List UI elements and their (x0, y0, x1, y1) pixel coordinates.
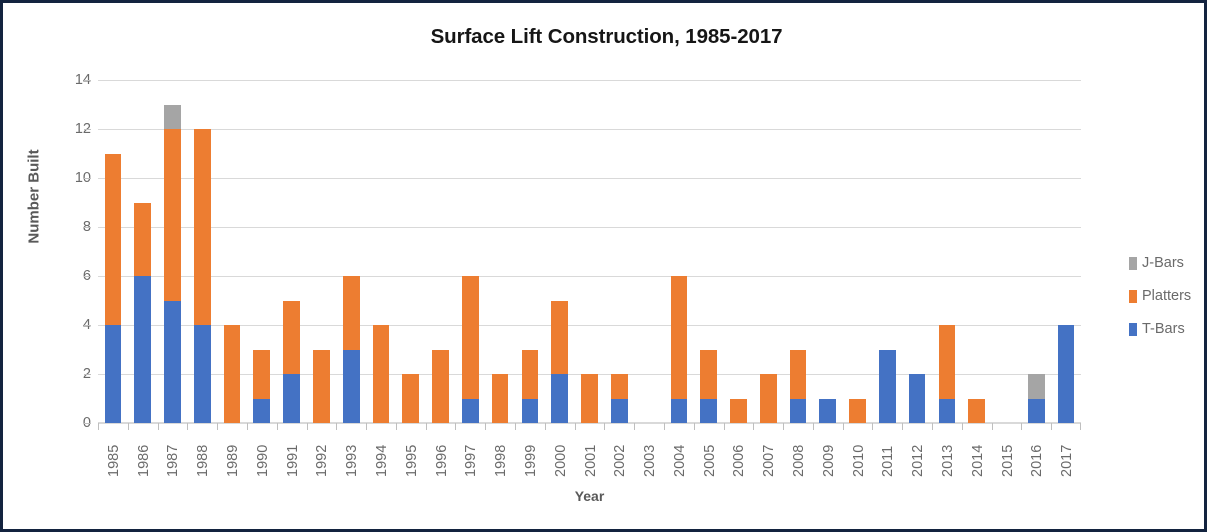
bar-segment-platters[interactable] (343, 276, 360, 350)
stacked-bar[interactable] (939, 325, 956, 423)
bar-segment-platters[interactable] (105, 154, 122, 326)
x-axis-tick-label: 2007 (760, 425, 778, 477)
bar-group[interactable] (485, 80, 515, 423)
bar-segment-platters[interactable] (581, 374, 598, 423)
bar-segment-platters[interactable] (492, 374, 509, 423)
stacked-bar[interactable] (283, 301, 300, 424)
x-axis-tick-label: 2013 (939, 425, 957, 477)
y-axis-tick-mark (84, 129, 91, 130)
x-axis-tick-mark (98, 423, 99, 430)
x-axis-tick-label: 1987 (164, 425, 182, 477)
bar-segment-t-bars[interactable] (253, 399, 270, 424)
legend-item[interactable]: T-Bars (1129, 315, 1207, 343)
bar-group[interactable] (575, 80, 605, 423)
bar-group[interactable] (724, 80, 754, 423)
x-axis-tick-mark (187, 423, 188, 430)
bar-segment-platters[interactable] (313, 350, 330, 424)
x-axis-tick-mark (158, 423, 159, 430)
bar-segment-platters[interactable] (968, 399, 985, 424)
bar-segment-t-bars[interactable] (105, 325, 122, 423)
legend-item[interactable]: Platters (1129, 282, 1207, 310)
x-axis-tick-label: 2017 (1058, 425, 1076, 477)
bar-group[interactable] (426, 80, 456, 423)
bar-segment-platters[interactable] (522, 350, 539, 399)
bar-group[interactable] (902, 80, 932, 423)
bar-segment-platters[interactable] (402, 374, 419, 423)
x-axis-tick-label: 1988 (194, 425, 212, 477)
bar-group[interactable] (1051, 80, 1081, 423)
stacked-bar[interactable] (968, 399, 985, 424)
bar-group[interactable] (128, 80, 158, 423)
x-axis-tick-mark (932, 423, 933, 430)
bar-segment-t-bars[interactable] (611, 399, 628, 424)
x-axis-tick-mark (604, 423, 605, 430)
x-axis-tick-mark (872, 423, 873, 430)
stacked-bar[interactable] (909, 374, 926, 423)
bar-segment-t-bars[interactable] (194, 325, 211, 423)
x-axis-tick-label: 1993 (343, 425, 361, 477)
stacked-bar[interactable] (492, 374, 509, 423)
bar-group[interactable] (634, 80, 664, 423)
stacked-bar[interactable] (373, 325, 390, 423)
x-axis-tick-label: 1995 (403, 425, 421, 477)
legend-item[interactable]: J-Bars (1129, 249, 1207, 277)
x-axis-tick-mark (455, 423, 456, 430)
x-axis-tick-label: 2015 (999, 425, 1017, 477)
bar-group[interactable] (694, 80, 724, 423)
stacked-bar[interactable] (253, 350, 270, 424)
x-axis-tick-mark (366, 423, 367, 430)
bar-segment-t-bars[interactable] (790, 399, 807, 424)
bar-segment-platters[interactable] (551, 301, 568, 375)
stacked-bar[interactable] (462, 276, 479, 423)
x-axis-tick-label: 1991 (284, 425, 302, 477)
stacked-bar[interactable] (551, 301, 568, 424)
x-axis-tick-mark (426, 423, 427, 430)
bar-segment-platters[interactable] (164, 129, 181, 301)
x-axis-tick-label: 1994 (373, 425, 391, 477)
x-axis-tick-label: 1985 (105, 425, 123, 477)
x-axis-tick-mark (1021, 423, 1022, 430)
x-axis-tick-mark (396, 423, 397, 430)
bar-segment-t-bars[interactable] (522, 399, 539, 424)
x-axis-tick-mark (1080, 423, 1081, 430)
chart-title: Surface Lift Construction, 1985-2017 (3, 25, 1207, 49)
x-axis-tick-mark (336, 423, 337, 430)
stacked-bar[interactable] (879, 350, 896, 424)
x-axis-tick-label: 1997 (462, 425, 480, 477)
bar-segment-platters[interactable] (194, 129, 211, 325)
bars-layer (98, 80, 1081, 423)
x-axis-tick-label: 2000 (552, 425, 570, 477)
bar-segment-platters[interactable] (432, 350, 449, 424)
bar-group[interactable] (843, 80, 873, 423)
bar-segment-t-bars[interactable] (671, 399, 688, 424)
stacked-bar[interactable] (224, 325, 241, 423)
stacked-bar[interactable] (849, 399, 866, 424)
bar-segment-platters[interactable] (760, 374, 777, 423)
stacked-bar[interactable] (194, 129, 211, 423)
x-axis-tick-mark (694, 423, 695, 430)
bar-group[interactable] (307, 80, 337, 423)
x-axis-tick-label: 1990 (254, 425, 272, 477)
x-axis-tick-mark (515, 423, 516, 430)
bar-segment-t-bars[interactable] (283, 374, 300, 423)
legend-label: Platters (1142, 288, 1191, 304)
x-axis-tick-mark (783, 423, 784, 430)
bar-group[interactable] (783, 80, 813, 423)
x-axis-tick-mark (485, 423, 486, 430)
x-axis-tick-mark (843, 423, 844, 430)
bar-segment-platters[interactable] (730, 399, 747, 424)
x-axis-tick-mark (753, 423, 754, 430)
x-axis-title: Year (98, 488, 1081, 504)
y-axis-tick-labels: 02468101214 (37, 80, 91, 423)
bar-group[interactable] (604, 80, 634, 423)
bar-segment-platters[interactable] (849, 399, 866, 424)
stacked-bar[interactable] (1028, 374, 1045, 423)
x-axis-tick-label: 2003 (641, 425, 659, 477)
x-axis-tick-label: 2005 (701, 425, 719, 477)
x-axis-tick-mark (217, 423, 218, 430)
y-axis-tick-mark (84, 325, 91, 326)
x-axis-tick-mark (128, 423, 129, 430)
bar-segment-t-bars[interactable] (343, 350, 360, 424)
stacked-bar[interactable] (343, 276, 360, 423)
bar-segment-t-bars[interactable] (1028, 399, 1045, 424)
y-axis-tick-mark (84, 80, 91, 81)
x-axis-tick-label: 1992 (313, 425, 331, 477)
bar-segment-t-bars[interactable] (551, 374, 568, 423)
y-axis-tick-mark (84, 178, 91, 179)
x-axis-tick-mark (664, 423, 665, 430)
y-axis-tick-mark (84, 227, 91, 228)
bar-group[interactable] (753, 80, 783, 423)
bar-segment-t-bars[interactable] (134, 276, 151, 423)
x-axis-tick-label: 2012 (909, 425, 927, 477)
legend: J-BarsPlattersT-Bars (1129, 249, 1207, 348)
stacked-bar[interactable] (432, 350, 449, 424)
y-axis-tick-mark (84, 374, 91, 375)
x-axis-tick-mark (307, 423, 308, 430)
stacked-bar[interactable] (105, 154, 122, 424)
stacked-bar[interactable] (700, 350, 717, 424)
legend-swatch (1129, 290, 1137, 303)
x-axis-tick-label: 2011 (879, 425, 897, 477)
x-axis-tick-label: 1989 (224, 425, 242, 477)
stacked-bar[interactable] (522, 350, 539, 424)
chart-frame: Surface Lift Construction, 1985-2017 Num… (0, 0, 1207, 532)
stacked-bar[interactable] (313, 350, 330, 424)
bar-segment-t-bars[interactable] (1058, 325, 1075, 423)
x-axis-tick-mark (902, 423, 903, 430)
bar-segment-platters[interactable] (224, 325, 241, 423)
bar-group[interactable] (962, 80, 992, 423)
stacked-bar[interactable] (790, 350, 807, 424)
x-axis-tick-labels: 1985198619871988198919901991199219931994… (98, 431, 1081, 483)
x-axis-tick-label: 2016 (1028, 425, 1046, 477)
bar-segment-platters[interactable] (253, 350, 270, 399)
bar-group[interactable] (455, 80, 485, 423)
x-axis-tick-label: 2001 (582, 425, 600, 477)
bar-group[interactable] (515, 80, 545, 423)
bar-group[interactable] (277, 80, 307, 423)
stacked-bar[interactable] (402, 374, 419, 423)
bar-group[interactable] (247, 80, 277, 423)
x-axis-tick-mark (545, 423, 546, 430)
x-axis-tick-mark (575, 423, 576, 430)
bar-segment-platters[interactable] (462, 276, 479, 399)
x-axis-tick-label: 2008 (790, 425, 808, 477)
x-axis-tick-mark (992, 423, 993, 430)
bar-segment-platters[interactable] (939, 325, 956, 399)
bar-segment-t-bars[interactable] (939, 399, 956, 424)
x-axis-tick-mark (277, 423, 278, 430)
bar-segment-platters[interactable] (700, 350, 717, 399)
legend-label: J-Bars (1142, 255, 1184, 271)
bar-segment-j-bars[interactable] (164, 105, 181, 130)
stacked-bar[interactable] (164, 105, 181, 424)
x-axis-tick-label: 2006 (730, 425, 748, 477)
plot-area (98, 80, 1081, 423)
x-axis-tick-label: 1999 (522, 425, 540, 477)
x-axis-tick-label: 2002 (611, 425, 629, 477)
bar-segment-t-bars[interactable] (879, 350, 896, 424)
bar-segment-platters[interactable] (611, 374, 628, 399)
y-axis-tick-mark (84, 276, 91, 277)
stacked-bar[interactable] (611, 374, 628, 423)
x-axis-tick-label: 2009 (820, 425, 838, 477)
x-axis-tick-mark (1051, 423, 1052, 430)
legend-swatch (1129, 323, 1137, 336)
x-axis-tick-mark (634, 423, 635, 430)
bar-group[interactable] (932, 80, 962, 423)
stacked-bar[interactable] (671, 276, 688, 423)
bar-segment-platters[interactable] (671, 276, 688, 399)
bar-group[interactable] (217, 80, 247, 423)
x-axis-tick-label: 1998 (492, 425, 510, 477)
legend-swatch (1129, 257, 1137, 270)
bar-segment-platters[interactable] (790, 350, 807, 399)
x-axis-tick-mark (247, 423, 248, 430)
x-axis-tick-mark (962, 423, 963, 430)
x-axis-tick-label: 1996 (433, 425, 451, 477)
bar-group[interactable] (336, 80, 366, 423)
x-axis-tick-label: 2010 (850, 425, 868, 477)
bar-group[interactable] (813, 80, 843, 423)
bar-group[interactable] (664, 80, 694, 423)
x-axis-tick-label: 2004 (671, 425, 689, 477)
bar-segment-j-bars[interactable] (1028, 374, 1045, 399)
bar-group[interactable] (1021, 80, 1051, 423)
legend-label: T-Bars (1142, 321, 1185, 337)
bar-segment-platters[interactable] (134, 203, 151, 277)
stacked-bar[interactable] (760, 374, 777, 423)
bar-group[interactable] (187, 80, 217, 423)
bar-group[interactable] (872, 80, 902, 423)
bar-group[interactable] (545, 80, 575, 423)
y-axis-tick-mark (84, 423, 91, 424)
bar-segment-t-bars[interactable] (819, 399, 836, 424)
bar-group[interactable] (992, 80, 1022, 423)
bar-segment-t-bars[interactable] (700, 399, 717, 424)
stacked-bar[interactable] (819, 399, 836, 424)
x-axis-tick-mark (813, 423, 814, 430)
stacked-bar[interactable] (134, 203, 151, 424)
stacked-bar[interactable] (581, 374, 598, 423)
bar-group[interactable] (396, 80, 426, 423)
bar-segment-platters[interactable] (373, 325, 390, 423)
stacked-bar[interactable] (1058, 325, 1075, 423)
bar-group[interactable] (366, 80, 396, 423)
x-axis-tick-label: 1986 (135, 425, 153, 477)
stacked-bar[interactable] (730, 399, 747, 424)
bar-segment-platters[interactable] (283, 301, 300, 375)
bar-segment-t-bars[interactable] (909, 374, 926, 423)
bar-segment-t-bars[interactable] (164, 301, 181, 424)
bar-group[interactable] (98, 80, 128, 423)
bar-group[interactable] (158, 80, 188, 423)
x-axis-tick-mark (724, 423, 725, 430)
x-axis-tick-label: 2014 (969, 425, 987, 477)
bar-segment-t-bars[interactable] (462, 399, 479, 424)
